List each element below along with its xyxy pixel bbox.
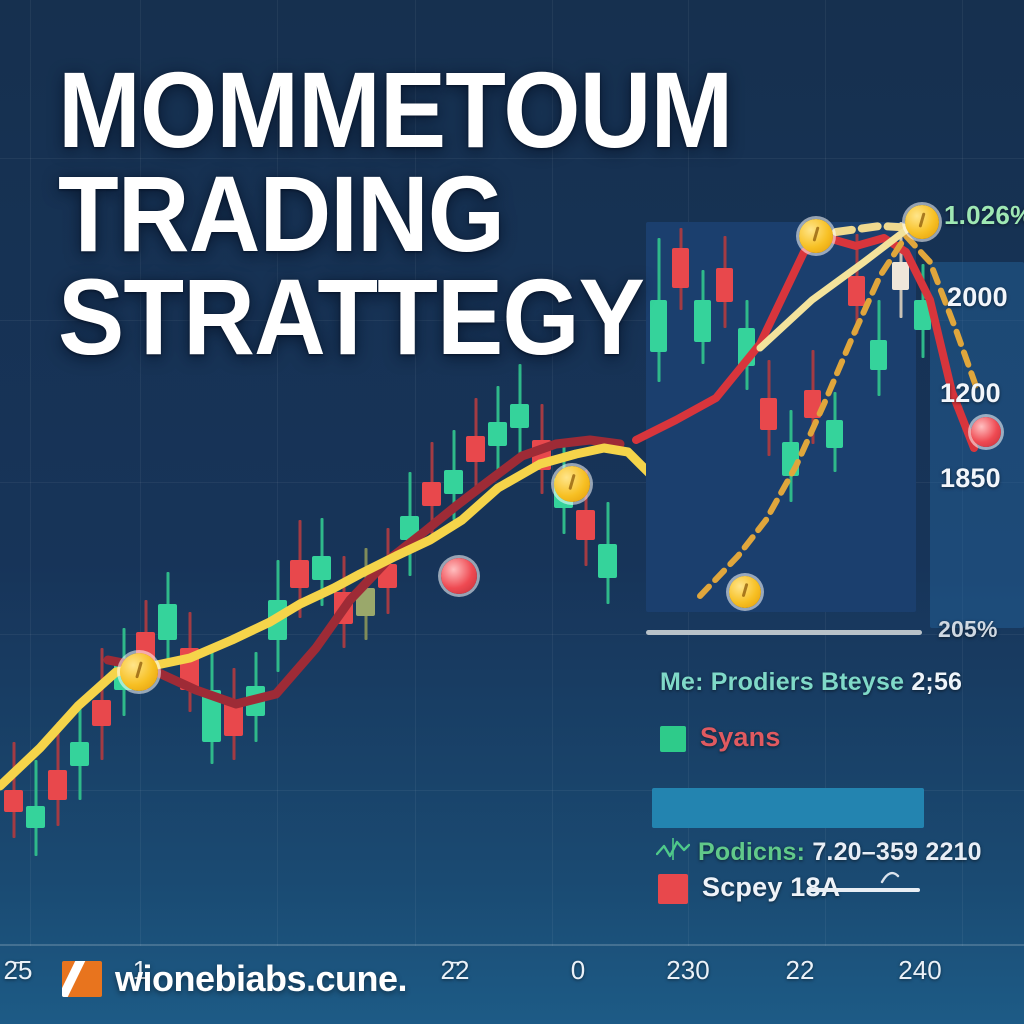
- inset-trend-red: [636, 238, 974, 448]
- x-axis-tick-label: 0: [571, 955, 585, 986]
- momentum-trading-strategy-poster: 200012001850 1.026% 205% Me: Prodiers Bt…: [0, 0, 1024, 1024]
- inset-separator: [646, 630, 922, 635]
- x-axis-tick-label: 230: [666, 955, 709, 986]
- main-candlestick-chart: [0, 0, 1024, 946]
- marker-tick-icon: [812, 226, 819, 242]
- legend-positions-value: 7.20–359 2210: [812, 838, 981, 866]
- inset-pct-top-label: 1.026%: [944, 200, 1024, 231]
- x-axis-tick-label: 2̄5: [4, 955, 33, 986]
- legend-row-meta: Me: Prodiers Bteyse 2;56: [660, 668, 962, 697]
- marker-tick-icon: [742, 583, 749, 598]
- slash-logo-icon: [62, 961, 102, 997]
- inset-price-label: 2000: [947, 282, 1008, 313]
- inset-price-label: 1850: [940, 463, 1001, 494]
- x-axis-baseline: [0, 944, 1024, 946]
- sparkline-icon: [656, 836, 690, 862]
- legend-positions-text: Podicns:: [698, 838, 805, 866]
- legend-swatch-red: [658, 874, 688, 904]
- brand-name: wionebiabs.cune.: [115, 958, 407, 1000]
- inset-price-label: 1200: [940, 378, 1001, 409]
- inset-pct-bottom-label: 205%: [938, 616, 998, 643]
- legend-supply-rule: [808, 888, 920, 892]
- legend-row-signals: Syans: [700, 722, 781, 753]
- buy-signal-marker[interactable]: [729, 576, 761, 608]
- marker-tick-icon: [918, 212, 925, 228]
- sell-signal-marker[interactable]: [971, 417, 1001, 447]
- inset-trend-dashed: [700, 236, 978, 596]
- legend-meta-value: 2;56: [911, 668, 962, 696]
- x-axis-tick-label: 2̄2: [441, 955, 470, 986]
- legend-row-positions: Podicns: 7.20–359 2210: [698, 838, 982, 867]
- buy-signal-marker[interactable]: [905, 205, 939, 239]
- legend-meta-text: Me: Prodiers Bteyse: [660, 668, 904, 696]
- x-axis-tick-label: 240: [898, 955, 941, 986]
- x-axis-tick-label: 22: [786, 955, 815, 986]
- inset-value-bar: [652, 788, 924, 828]
- legend-swatch-green: [660, 726, 686, 752]
- legend-supply-tick-icon: [878, 866, 902, 888]
- brand-footer: wionebiabs.cune.: [62, 958, 407, 1000]
- buy-signal-marker[interactable]: [799, 219, 833, 253]
